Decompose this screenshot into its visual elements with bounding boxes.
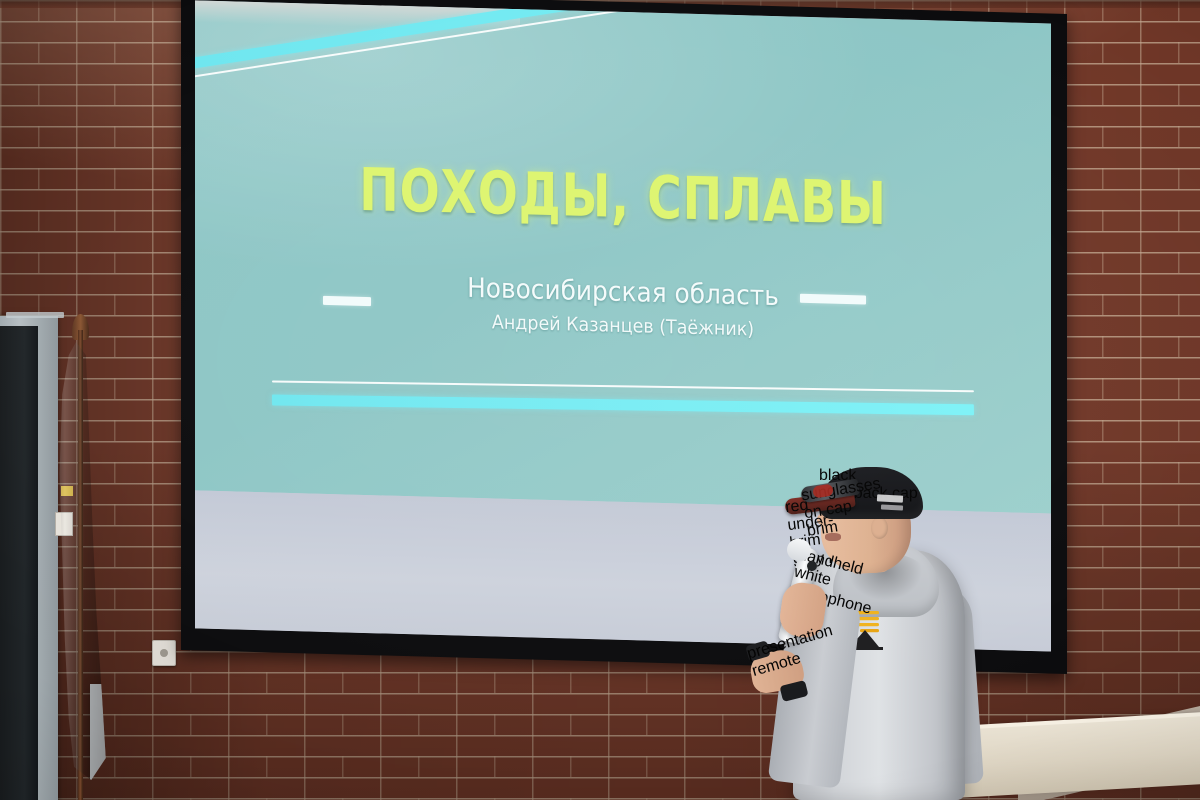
decor-line-bottom-thick	[272, 394, 974, 415]
speaker-ear	[871, 517, 888, 539]
cap-label-secondary	[881, 504, 903, 510]
slide-decor-bottom	[195, 360, 1051, 463]
wall-socket[interactable]	[152, 640, 176, 666]
cap-label	[877, 494, 903, 502]
door-frame-highlight	[6, 312, 64, 318]
speaker: grey hoodie black snapback ca	[745, 455, 1045, 800]
door-frame	[0, 316, 58, 800]
decor-line-bottom-thin	[272, 380, 974, 392]
presentation-remote[interactable]: presentation remote	[745, 640, 771, 661]
presentation-slide: ПОХОДЫ, СПЛАВЫ Новосибирская область Анд…	[195, 0, 1051, 513]
photo-scene: ПОХОДЫ, СПЛАВЫ Новосибирская область Анд…	[0, 0, 1200, 800]
slide-decor-top	[195, 0, 1051, 173]
door-opening[interactable]	[0, 326, 38, 800]
